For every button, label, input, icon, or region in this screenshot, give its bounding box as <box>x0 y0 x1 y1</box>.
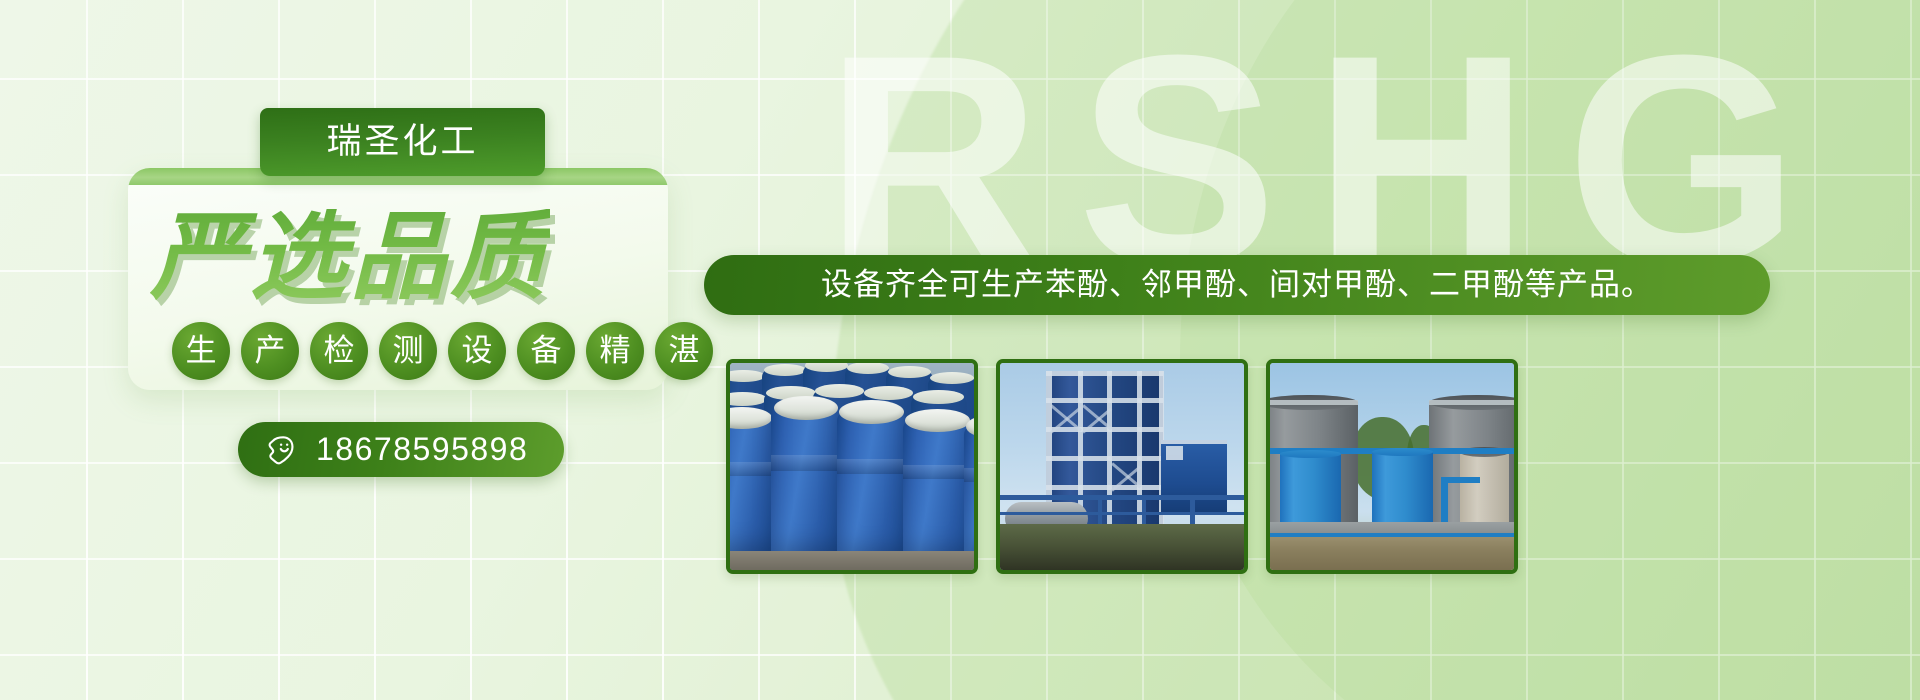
feature-circle: 备 <box>517 322 575 380</box>
left-content-block: 瑞圣化工 严选品质 生 产 检 测 设 备 精 湛 <box>0 0 700 700</box>
feature-circle: 生 <box>172 322 230 380</box>
feature-circle-label: 产 <box>255 335 286 366</box>
tagline-pill: 设备齐全可生产苯酚、邻甲酚、间对甲酚、二甲酚等产品。 <box>704 255 1770 315</box>
photo-storage-tanks-image <box>1270 363 1514 570</box>
phone-smile-icon <box>262 433 296 467</box>
feature-circle: 精 <box>586 322 644 380</box>
phone-number-text: 18678595898 <box>316 433 528 465</box>
photo-production-plant[interactable]: 生产装置 <box>996 359 1248 574</box>
brand-tag: 瑞圣化工 <box>260 108 545 176</box>
brand-tag-label: 瑞圣化工 <box>326 124 478 159</box>
feature-circle-label: 湛 <box>669 335 700 366</box>
feature-circle: 设 <box>448 322 506 380</box>
feature-circles-row: 生 产 检 测 设 备 精 湛 <box>172 322 713 380</box>
feature-circle: 产 <box>241 322 299 380</box>
feature-circle: 测 <box>379 322 437 380</box>
photo-blue-drums[interactable]: 蓝色化工桶 <box>726 359 978 574</box>
feature-circle-label: 精 <box>600 335 631 366</box>
feature-circle-label: 备 <box>531 335 562 366</box>
right-content-block: 设备齐全可生产苯酚、邻甲酚、间对甲酚、二甲酚等产品。 <box>700 0 1920 700</box>
promo-banner: RSHG 瑞圣化工 严选品质 生 产 检 测 设 备 精 湛 <box>0 0 1920 700</box>
feature-circle-label: 设 <box>462 335 493 366</box>
tagline-text: 设备齐全可生产苯酚、邻甲酚、间对甲酚、二甲酚等产品。 <box>821 269 1653 300</box>
photo-storage-tanks[interactable]: 储罐区 <box>1266 359 1518 574</box>
photo-blue-drums-image <box>730 363 974 570</box>
photo-production-plant-image <box>1000 363 1244 570</box>
feature-circle: 检 <box>310 322 368 380</box>
phone-cta-pill[interactable]: 18678595898 <box>238 422 564 477</box>
feature-circle: 湛 <box>655 322 713 380</box>
feature-circle-label: 生 <box>186 335 217 366</box>
feature-circle-label: 测 <box>393 335 424 366</box>
feature-circle-label: 检 <box>324 335 355 366</box>
product-gallery: 蓝色化工桶 <box>726 359 1518 574</box>
